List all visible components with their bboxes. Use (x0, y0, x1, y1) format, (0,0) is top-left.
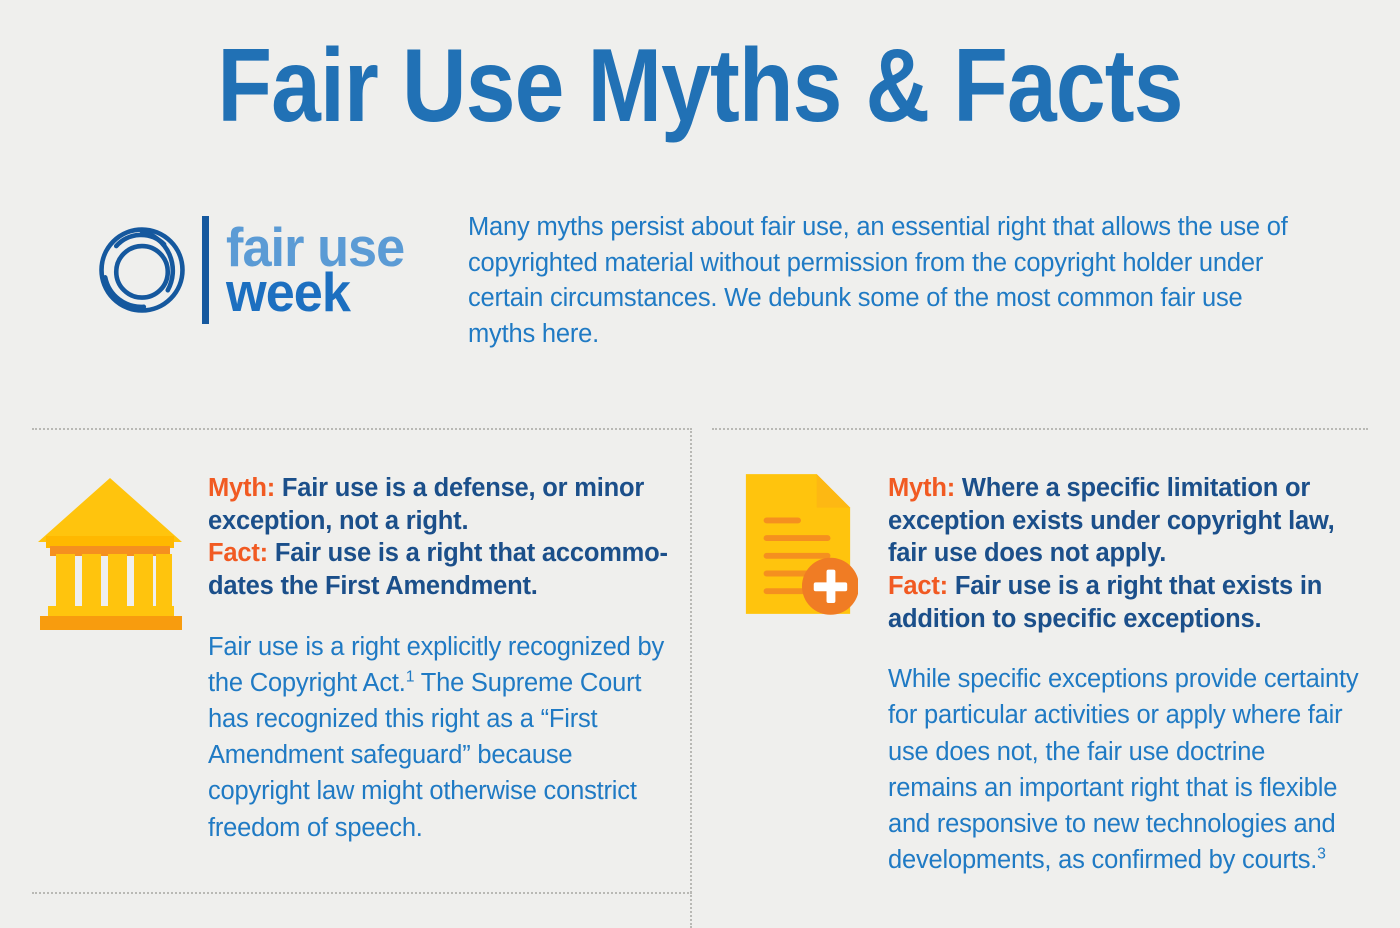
aperture-icon (96, 224, 188, 316)
divider-top-left (32, 428, 692, 430)
myth-label-left: Myth: (208, 474, 275, 502)
myth-fact-block-right: Myth: Where a specific limitation or exc… (888, 472, 1360, 635)
myth-card-left: Myth: Fair use is a defense, or minor ex… (30, 470, 680, 846)
footnote-marker-left: 1 (406, 668, 415, 685)
myth-text-right: Where a specific limitation or exception… (888, 474, 1335, 567)
divider-bottom-left (32, 892, 692, 894)
page-title: Fair Use Myths & Facts (98, 34, 1302, 138)
logo-wordmark: fair use week (226, 225, 414, 315)
footnote-marker-right: 3 (1317, 846, 1326, 863)
fact-label-left: Fact: (208, 539, 268, 567)
body-paragraph-right: While specific exceptions provide certai… (888, 661, 1360, 878)
myth-card-right: Myth: Where a specific limitation or exc… (740, 470, 1360, 878)
infographic-page: Fair Use Myths & Facts fair use week Man… (0, 0, 1400, 928)
divider-vertical-center (690, 428, 692, 928)
intro-paragraph: Many myths persist about fair use, an es… (468, 210, 1298, 353)
divider-top-right (712, 428, 1368, 430)
logo-divider-rule (202, 216, 209, 324)
myth-label-right: Myth: (888, 474, 955, 502)
document-add-icon (740, 470, 858, 623)
body-paragraph-left: Fair use is a right explicitly recognize… (208, 629, 680, 846)
fact-label-right: Fact: (888, 572, 948, 600)
courthouse-icon (30, 470, 190, 635)
header-band: fair use week Many myths persist about f… (0, 196, 1400, 366)
fair-use-week-logo: fair use week (96, 210, 436, 330)
myth-card-left-text: Myth: Fair use is a defense, or minor ex… (208, 470, 680, 846)
logo-line-week: week (226, 270, 404, 315)
myth-card-right-text: Myth: Where a specific limitation or exc… (888, 470, 1360, 878)
myth-fact-block-left: Myth: Fair use is a defense, or minor ex… (208, 472, 680, 603)
fact-text-left: Fair use is a right that accommo­dates t… (208, 539, 668, 600)
fact-text-right: Fair use is a right that exists in addit… (888, 572, 1322, 633)
body-right-part1: While specific exceptions provide certai… (888, 665, 1358, 874)
